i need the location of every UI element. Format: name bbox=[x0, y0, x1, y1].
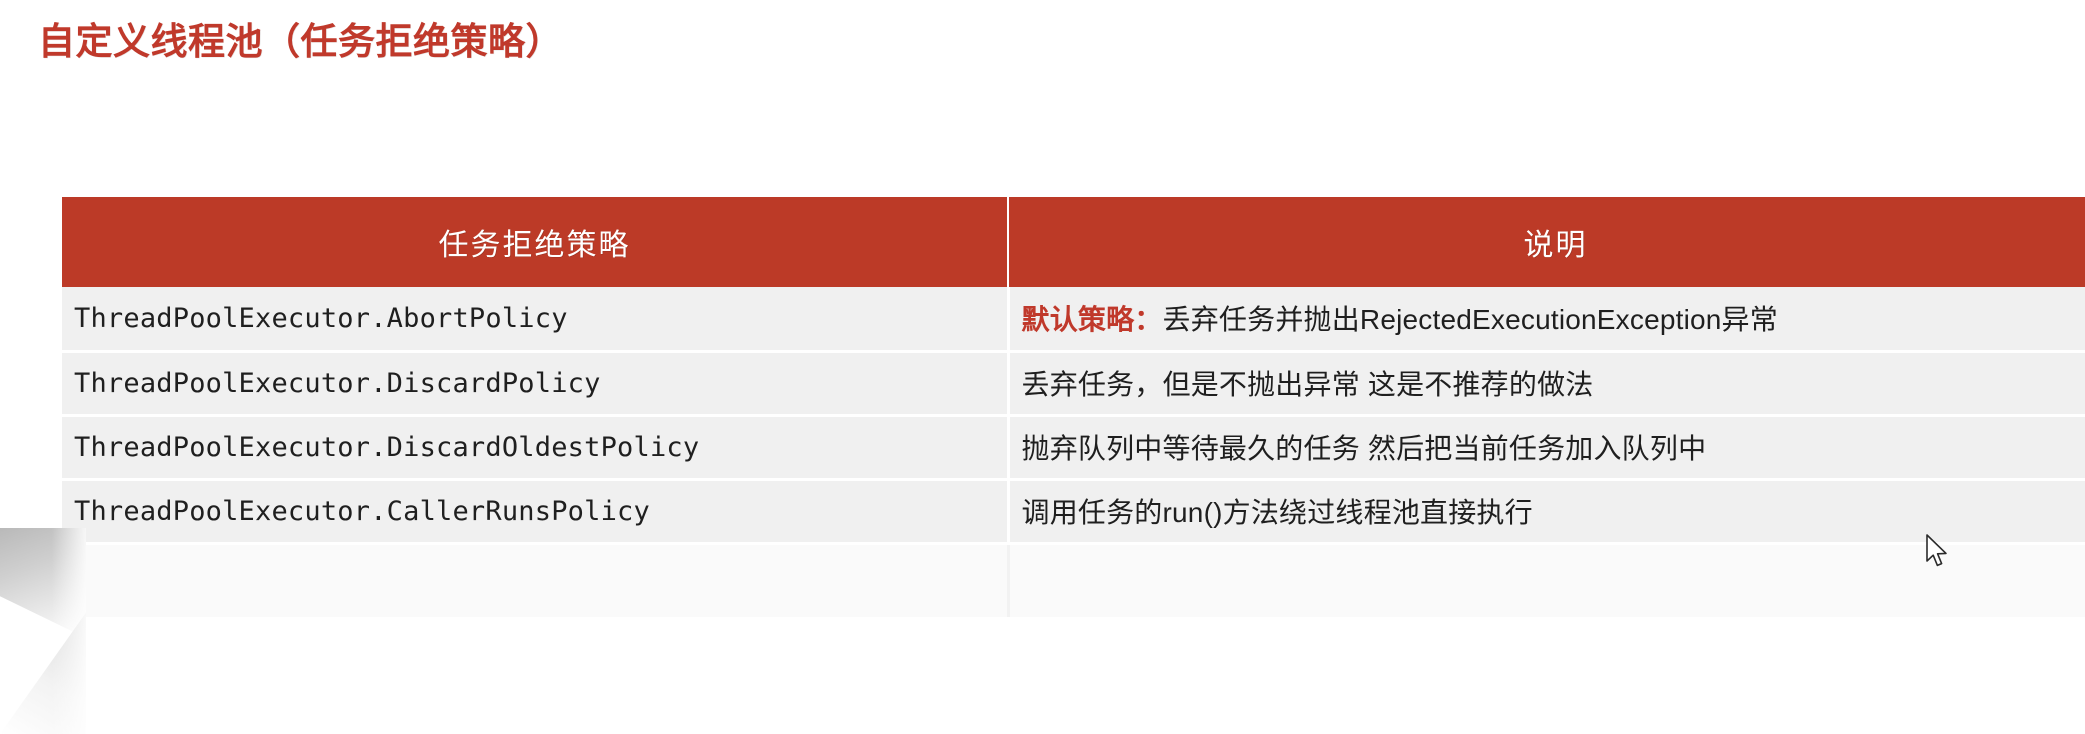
policy-class-text: ThreadPoolExecutor.AbortPolicy bbox=[74, 303, 568, 334]
table-header-row: 任务拒绝策略 说明 bbox=[62, 197, 2085, 287]
cell-policy-name: ThreadPoolExecutor.AbortPolicy bbox=[62, 287, 1008, 351]
description-text: 调用任务的run()方法绕过线程池直接执行 bbox=[1022, 497, 1533, 528]
cell-policy-name: ThreadPoolExecutor.DiscardOldestPolicy bbox=[62, 415, 1008, 479]
description-text: 默认策略：丢弃任务并抛出RejectedExecutionException异常 bbox=[1022, 304, 1778, 335]
description-body: 丢弃任务，但是不抛出异常 这是不推荐的做法 bbox=[1022, 369, 1594, 400]
table-header: 任务拒绝策略 说明 bbox=[62, 197, 2085, 287]
cell-policy-description: 抛弃队列中等待最久的任务 然后把当前任务加入队列中 bbox=[1008, 415, 2085, 479]
cell-policy-description: 调用任务的run()方法绕过线程池直接执行 bbox=[1008, 479, 2085, 543]
column-header-policy: 任务拒绝策略 bbox=[62, 197, 1008, 287]
cell-policy-name: ThreadPoolExecutor.DiscardPolicy bbox=[62, 351, 1008, 415]
description-body: 抛弃队列中等待最久的任务 然后把当前任务加入队列中 bbox=[1022, 433, 1707, 464]
table-row bbox=[62, 543, 2085, 617]
table-row: ThreadPoolExecutor.CallerRunsPolicy调用任务的… bbox=[62, 479, 2085, 543]
description-text: 抛弃队列中等待最久的任务 然后把当前任务加入队列中 bbox=[1022, 433, 1707, 464]
policy-class-text: ThreadPoolExecutor.DiscardOldestPolicy bbox=[74, 432, 699, 463]
cell-policy-name bbox=[62, 543, 1008, 617]
description-text: 丢弃任务，但是不抛出异常 这是不推荐的做法 bbox=[1022, 369, 1594, 400]
policy-class-text: ThreadPoolExecutor.CallerRunsPolicy bbox=[74, 496, 650, 527]
cell-policy-description: 丢弃任务，但是不抛出异常 这是不推荐的做法 bbox=[1008, 351, 2085, 415]
cell-policy-description bbox=[1008, 543, 2085, 617]
table-row: ThreadPoolExecutor.AbortPolicy默认策略：丢弃任务并… bbox=[62, 287, 2085, 351]
rejection-policy-table: 任务拒绝策略 说明 ThreadPoolExecutor.AbortPolicy… bbox=[62, 197, 2085, 617]
page-title: 自定义线程池（任务拒绝策略） bbox=[38, 11, 563, 65]
description-body: 丢弃任务并抛出RejectedExecutionException异常 bbox=[1163, 304, 1778, 335]
policy-class-text: ThreadPoolExecutor.DiscardPolicy bbox=[74, 368, 601, 399]
table-row: ThreadPoolExecutor.DiscardOldestPolicy抛弃… bbox=[62, 415, 2085, 479]
description-emphasis: 默认策略： bbox=[1022, 304, 1163, 335]
table-row: ThreadPoolExecutor.DiscardPolicy丢弃任务，但是不… bbox=[62, 351, 2085, 415]
cell-policy-description: 默认策略：丢弃任务并抛出RejectedExecutionException异常 bbox=[1008, 287, 2085, 351]
cell-policy-name: ThreadPoolExecutor.CallerRunsPolicy bbox=[62, 479, 1008, 543]
table-body: ThreadPoolExecutor.AbortPolicy默认策略：丢弃任务并… bbox=[62, 287, 2085, 617]
description-body: 调用任务的run()方法绕过线程池直接执行 bbox=[1022, 497, 1533, 528]
column-header-description: 说明 bbox=[1008, 197, 2085, 287]
